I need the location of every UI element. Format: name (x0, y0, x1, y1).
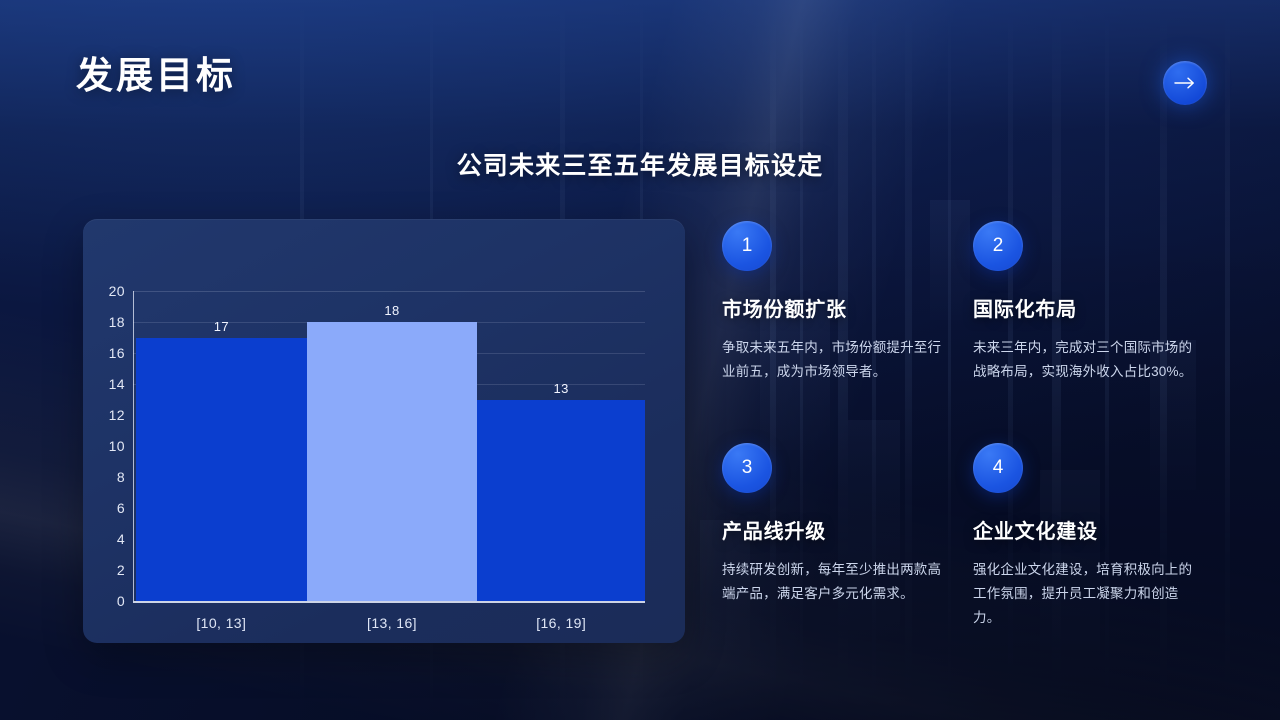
chart-y-tick-label: 2 (91, 562, 125, 578)
goal-card-3[interactable]: 3 产品线升级 持续研发创新，每年至少推出两款高端产品，满足客户多元化需求。 (722, 443, 946, 606)
goal-number-badge: 4 (973, 443, 1023, 493)
chart-y-tick-label: 8 (91, 469, 125, 485)
chart-x-tick-label: [16, 19] (536, 615, 586, 631)
goal-card-2[interactable]: 2 国际化布局 未来三年内，完成对三个国际市场的战略布局，实现海外收入占比30%… (973, 221, 1197, 384)
goal-title: 产品线升级 (722, 515, 946, 544)
chart-bar[interactable] (136, 338, 307, 602)
chart-y-tick-label: 10 (91, 438, 125, 454)
arrow-right-icon (1174, 76, 1196, 90)
chart-x-axis (133, 601, 645, 603)
chart-y-tick-label: 12 (91, 407, 125, 423)
goal-description: 强化企业文化建设，培育积极向上的工作氛围，提升员工凝聚力和创造力。 (973, 558, 1197, 630)
chart-y-tick-label: 20 (91, 283, 125, 299)
section-subtitle: 公司未来三至五年发展目标设定 (0, 146, 1280, 182)
chart-y-tick-label: 18 (91, 314, 125, 330)
goal-description: 争取未来五年内，市场份额提升至行业前五，成为市场领导者。 (722, 336, 946, 384)
chart-gridline (133, 291, 645, 292)
chart-x-tick-label: [13, 16] (367, 615, 417, 631)
goal-number-badge: 1 (722, 221, 772, 271)
goal-number-badge: 2 (973, 221, 1023, 271)
goal-description: 未来三年内，完成对三个国际市场的战略布局，实现海外收入占比30%。 (973, 336, 1197, 384)
chart-bar[interactable] (307, 322, 478, 601)
chart-bar-value-label: 13 (554, 381, 569, 396)
chart-y-tick-label: 16 (91, 345, 125, 361)
page-title: 发展目标 (76, 57, 236, 94)
goal-description: 持续研发创新，每年至少推出两款高端产品，满足客户多元化需求。 (722, 558, 946, 606)
chart-y-tick-label: 4 (91, 531, 125, 547)
goal-card-4[interactable]: 4 企业文化建设 强化企业文化建设，培育积极向上的工作氛围，提升员工凝聚力和创造… (973, 443, 1197, 630)
chart-x-tick-label: [10, 13] (196, 615, 246, 631)
goal-title: 国际化布局 (973, 293, 1197, 322)
chart-panel: 0246810121416182017[10, 13]18[13, 16]13[… (83, 219, 685, 643)
chart-y-axis (133, 291, 134, 601)
chart-bar-value-label: 18 (384, 303, 399, 318)
next-slide-button[interactable] (1163, 61, 1207, 105)
chart-y-tick-label: 6 (91, 500, 125, 516)
goal-number-badge: 3 (722, 443, 772, 493)
chart-y-tick-label: 0 (91, 593, 125, 609)
goal-title: 企业文化建设 (973, 515, 1197, 544)
bar-chart[interactable]: 0246810121416182017[10, 13]18[13, 16]13[… (83, 219, 685, 643)
chart-bar-value-label: 17 (214, 319, 229, 334)
chart-y-tick-label: 14 (91, 376, 125, 392)
slide-canvas: 发展目标 公司未来三至五年发展目标设定 0246810121416182017[… (0, 0, 1280, 720)
chart-bar[interactable] (477, 400, 645, 602)
goal-card-1[interactable]: 1 市场份额扩张 争取未来五年内，市场份额提升至行业前五，成为市场领导者。 (722, 221, 946, 384)
goal-title: 市场份额扩张 (722, 293, 946, 322)
